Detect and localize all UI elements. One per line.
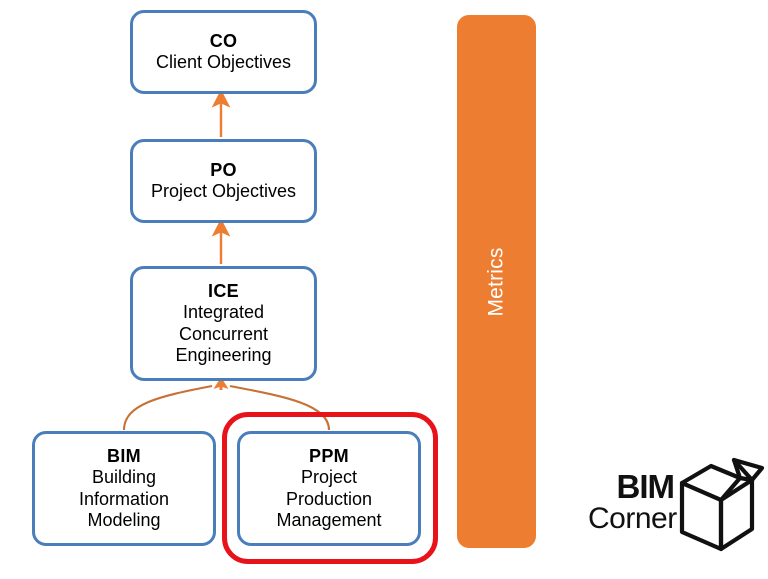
connector-bim-to-ice	[124, 386, 212, 430]
node-po-line-1: Project Objectives	[151, 181, 296, 202]
node-bim-line-2: Information	[79, 489, 169, 510]
node-bim-code: BIM	[107, 446, 141, 467]
node-bim[interactable]: BIM Building Information Modeling	[32, 431, 216, 546]
node-ice-line-2: Concurrent	[175, 324, 271, 345]
node-ice[interactable]: ICE Integrated Concurrent Engineering	[130, 266, 317, 381]
node-bim-description: Building Information Modeling	[79, 467, 169, 531]
logo-wordmark: BIM Corner	[588, 470, 674, 534]
node-ice-code: ICE	[208, 281, 239, 302]
node-co-description: Client Objectives	[156, 52, 291, 73]
node-ice-description: Integrated Concurrent Engineering	[175, 302, 271, 366]
node-co-code: CO	[210, 31, 238, 52]
node-po-description: Project Objectives	[151, 181, 296, 202]
node-ice-line-3: Engineering	[175, 345, 271, 366]
bim-corner-logo: BIM Corner	[588, 450, 764, 556]
node-ppm[interactable]: PPM Project Production Management	[237, 431, 421, 546]
node-ppm-line-2: Production	[276, 489, 381, 510]
node-co-line-1: Client Objectives	[156, 52, 291, 73]
node-co[interactable]: CO Client Objectives	[130, 10, 317, 94]
node-ice-line-1: Integrated	[175, 302, 271, 323]
metrics-bar[interactable]	[457, 15, 536, 548]
node-ppm-line-1: Project	[276, 467, 381, 488]
diagram-canvas: CO Client Objectives PO Project Objectiv…	[0, 0, 768, 579]
node-ppm-description: Project Production Management	[276, 467, 381, 531]
open-box-icon	[674, 450, 764, 554]
logo-line-corner: Corner	[588, 504, 674, 534]
node-bim-line-1: Building	[79, 467, 169, 488]
logo-line-bim: BIM	[588, 470, 674, 503]
node-po[interactable]: PO Project Objectives	[130, 139, 317, 223]
node-bim-line-3: Modeling	[79, 510, 169, 531]
node-ppm-code: PPM	[309, 446, 349, 467]
node-ppm-line-3: Management	[276, 510, 381, 531]
node-po-code: PO	[210, 160, 237, 181]
